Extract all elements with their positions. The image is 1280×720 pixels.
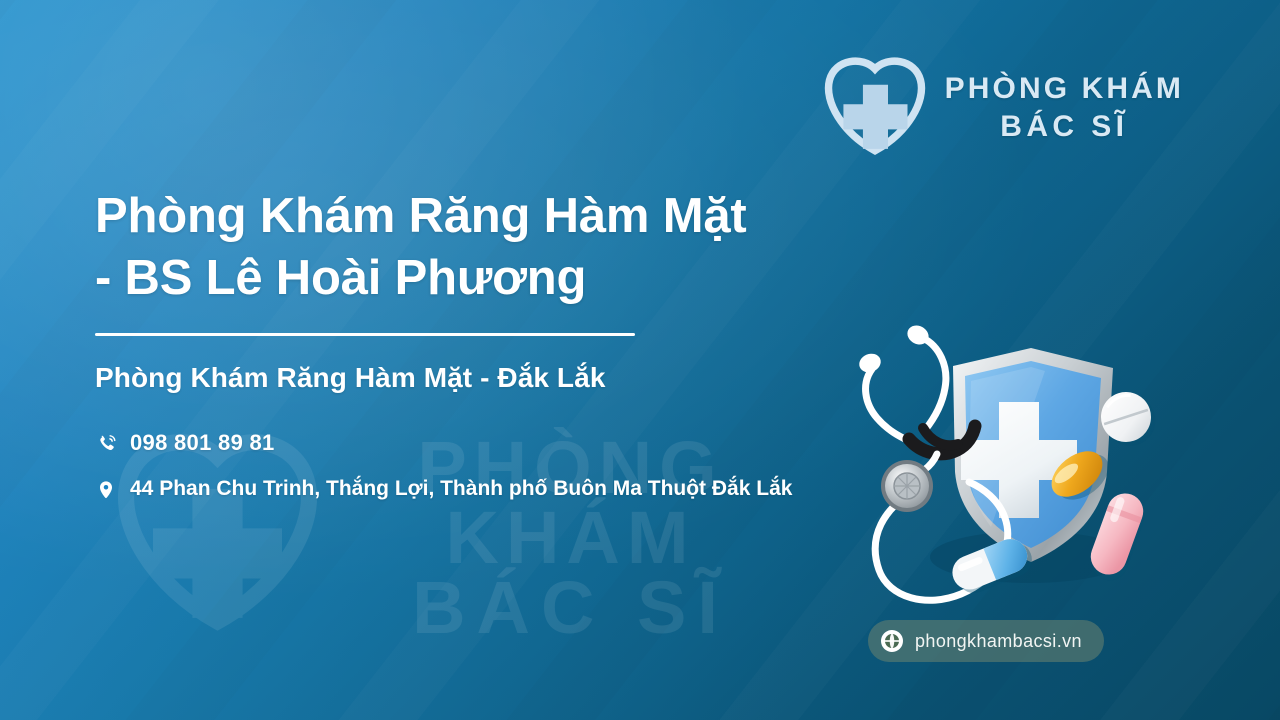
clinic-title: Phòng Khám Răng Hàm Mặt - BS Lê Hoài Phư… — [95, 186, 885, 309]
globe-icon — [880, 629, 904, 653]
clinic-title-line-2: - BS Lê Hoài Phương — [95, 248, 885, 310]
map-pin-icon — [95, 477, 117, 503]
website-url[interactable]: phongkhambacsi.vn — [915, 631, 1082, 652]
chest-piece — [881, 460, 933, 512]
medical-illustration — [845, 322, 1165, 614]
logo-line-1: PHÒNG KHÁM — [945, 72, 1184, 105]
clinic-address[interactable]: 44 Phan Chu Trinh, Thắng Lợi, Thành phố … — [130, 475, 792, 504]
website-badge[interactable]: phongkhambacsi.vn — [868, 620, 1104, 662]
brand-logo[interactable]: PHÒNG KHÁM BÁC SĨ — [819, 56, 1184, 160]
address-row[interactable]: 44 Phan Chu Trinh, Thắng Lợi, Thành phố … — [95, 475, 885, 504]
clinic-subtitle: Phòng Khám Răng Hàm Mặt - Đắk Lắk — [95, 362, 885, 394]
logo-line-2: BÁC SĨ — [945, 108, 1184, 146]
banner-content: Phòng Khám Răng Hàm Mặt - BS Lê Hoài Phư… — [95, 186, 885, 520]
brand-logo-text: PHÒNG KHÁM BÁC SĨ — [945, 70, 1184, 147]
phone-number[interactable]: 098 801 89 81 — [130, 428, 275, 458]
title-divider — [95, 333, 635, 336]
phone-row[interactable]: 098 801 89 81 — [95, 428, 885, 458]
clinic-title-line-1: Phòng Khám Răng Hàm Mặt — [95, 189, 747, 243]
medical-cross-heart-emblem-icon — [819, 56, 931, 160]
promo-banner: PHÒNG KHÁM BÁC SĨ PHÒNG KHÁM BÁC SĨ Phòn… — [0, 0, 1280, 720]
watermark-line-2: BÁC SĨ — [331, 573, 810, 643]
ringing-phone-icon — [95, 430, 117, 456]
